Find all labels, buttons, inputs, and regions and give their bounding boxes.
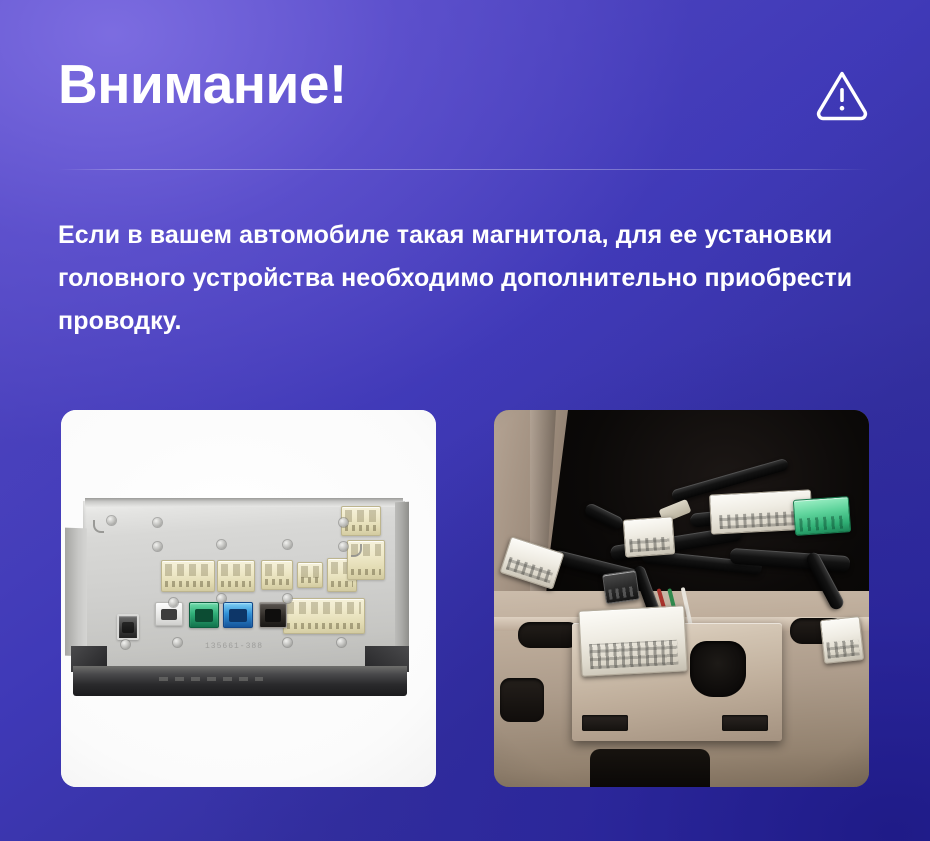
bracket-slot-right xyxy=(722,715,768,731)
connector-cream-1 xyxy=(161,560,215,592)
dashboard-lower-opening xyxy=(590,749,710,787)
connector-cream-large xyxy=(283,598,365,634)
banner-header: Внимание! xyxy=(58,56,872,152)
socket-green xyxy=(189,602,219,628)
connector-white-mid xyxy=(623,516,676,557)
dashboard-slot-3 xyxy=(500,678,544,722)
socket-blue xyxy=(223,602,253,628)
page-title: Внимание! xyxy=(58,56,872,114)
connector-green xyxy=(793,496,851,536)
banner-body-text: Если в вашем автомобиле такая магнитола,… xyxy=(58,214,876,343)
connector-cream-2 xyxy=(217,560,255,592)
chassis-right-bevel xyxy=(395,502,409,670)
chassis-bottom-rail xyxy=(73,666,407,696)
socket-dark-right xyxy=(259,602,287,628)
car-head-unit-rear-photo: 135661-388 xyxy=(61,410,436,787)
header-divider xyxy=(58,169,870,170)
socket-dark-left xyxy=(117,614,139,640)
warning-banner: Внимание! Если в вашем автомобиле такая … xyxy=(0,0,930,841)
head-unit-body: 135661-388 xyxy=(65,498,418,696)
photo-row: 135661-388 xyxy=(61,410,869,787)
connector-white-large xyxy=(578,605,687,676)
connector-cream-3 xyxy=(261,560,293,590)
chassis-left-flange xyxy=(65,528,87,657)
warning-triangle-icon xyxy=(814,66,870,122)
connector-white-right xyxy=(820,616,864,664)
chassis-marking: 135661-388 xyxy=(205,642,263,651)
dashboard-wiring-harness-photo xyxy=(494,410,869,787)
dashboard-slot-1 xyxy=(518,622,580,648)
connector-black xyxy=(602,570,640,604)
bracket-hole xyxy=(690,641,746,697)
connector-cream-4 xyxy=(297,562,323,588)
bracket-slot-left xyxy=(582,715,628,731)
socket-white xyxy=(155,602,183,626)
